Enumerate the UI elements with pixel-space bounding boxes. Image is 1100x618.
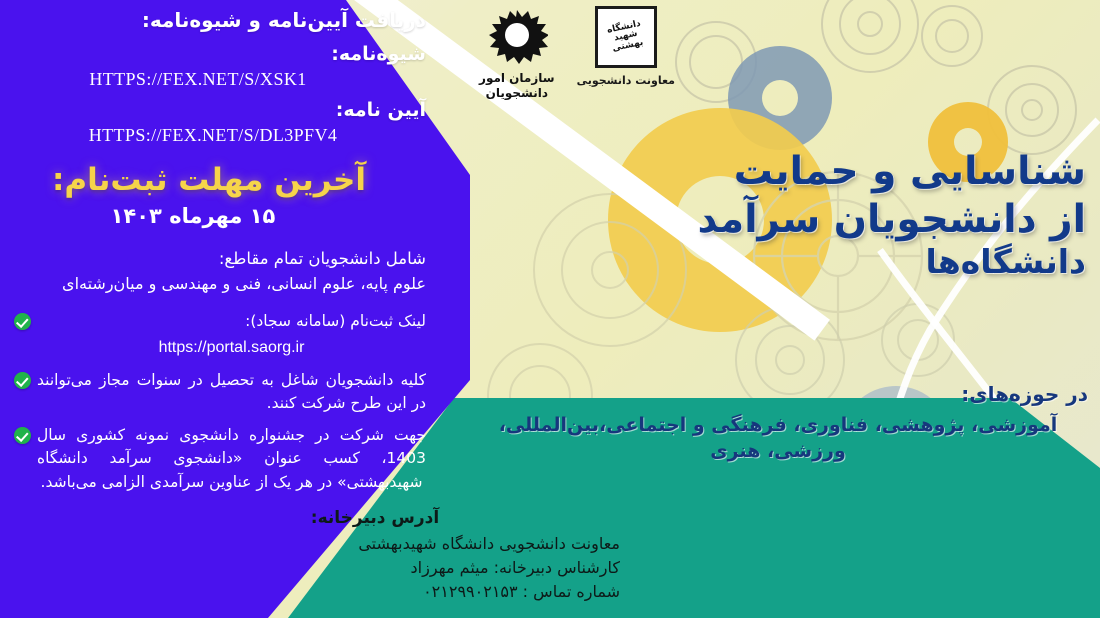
starburst-icon — [484, 6, 550, 68]
receive-heading: دریافت آیین‌نامه و شیوه‌نامه: — [10, 8, 426, 32]
logo-caption-line-2: دانشجویان — [479, 86, 555, 101]
title-line-3: دانشگاه‌ها — [616, 244, 1086, 281]
registration-link[interactable]: https://portal.saorg.ir — [37, 336, 426, 360]
eligibility-block: شامل دانشجویان تمام مقاطع: علوم پایه، عل… — [10, 246, 426, 296]
secretariat-phone[interactable]: شماره تماس : ۰۲۱۲۹۹۰۲۱۵۳ — [200, 580, 620, 604]
list-item: جهت شرکت در جشنواره دانشجوی نمونه کشوری … — [10, 424, 426, 494]
list-item: کلیه دانشجویان شاغل به تحصیل در سنوات مج… — [10, 369, 426, 416]
eligibility-line-2: علوم پایه، علوم انسانی، فنی و مهندسی و م… — [16, 272, 426, 297]
logo-student-affairs: سازمان امور دانشجویان — [479, 6, 555, 101]
secretariat-expert: کارشناس دبیرخانه: میثم مهرزاد — [200, 556, 620, 580]
method-url[interactable]: HTTPS://FEX.NET/S/XSK1 — [10, 69, 426, 90]
logo-shahid-beheshti: دانشگاه شهید بهشتی معاونت دانشجویی — [577, 6, 675, 87]
title-line-2: از دانشجویان سرآمد — [616, 198, 1086, 242]
list-item: لینک ثبت‌نام (سامانه سجاد): https://port… — [10, 310, 426, 359]
logo-caption: سازمان امور دانشجویان — [479, 71, 555, 101]
bullet-list: لینک ثبت‌نام (سامانه سجاد): https://port… — [10, 310, 426, 494]
page-title: شناسایی و حمایت از دانشجویان سرآمد دانشگ… — [616, 150, 1086, 281]
poster-canvas: دریافت آیین‌نامه و شیوه‌نامه: شیوه‌نامه:… — [0, 0, 1100, 618]
university-seal-icon: دانشگاه شهید بهشتی — [595, 6, 657, 68]
fields-heading: در حوزه‌های: — [468, 382, 1088, 406]
logo-caption-line-1: سازمان امور — [479, 71, 555, 86]
bullet-text-label: لینک ثبت‌نام (سامانه سجاد): — [245, 312, 426, 330]
logo-row: دانشگاه شهید بهشتی معاونت دانشجویی سازما… — [425, 6, 675, 114]
bullet-text: لینک ثبت‌نام (سامانه سجاد): https://port… — [37, 310, 426, 359]
logo-caption: معاونت دانشجویی — [577, 74, 675, 87]
secretariat-block: آدرس دبیرخانه: معاونت دانشجویی دانشگاه ش… — [200, 508, 620, 604]
check-circle-icon — [14, 372, 31, 389]
bullet-text: جهت شرکت در جشنواره دانشجوی نمونه کشوری … — [37, 424, 426, 494]
check-circle-icon — [14, 427, 31, 444]
check-circle-icon — [14, 313, 31, 330]
secretariat-address: معاونت دانشجویی دانشگاه شهیدبهشتی — [200, 532, 620, 556]
university-seal-text: دانشگاه شهید بهشتی — [599, 10, 654, 65]
deadline-date: ۱۵ مهرماه ۱۴۰۳ — [10, 204, 426, 228]
regulation-label: آیین نامه: — [10, 99, 426, 121]
deadline-heading: آخرین مهلت ثبت‌نام: — [10, 162, 426, 198]
fields-list: آموزشی، پژوهشی، فناوری، فرهنگی و اجتماعی… — [468, 413, 1088, 464]
method-label: شیوه‌نامه: — [10, 43, 426, 65]
eligibility-line-1: شامل دانشجویان تمام مقاطع: — [16, 246, 426, 272]
regulation-url[interactable]: HTTPS://FEX.NET/S/DL3PFV4 — [10, 125, 426, 146]
title-line-1: شناسایی و حمایت — [616, 150, 1086, 194]
starburst-glyph — [486, 8, 548, 66]
bullet-text: کلیه دانشجویان شاغل به تحصیل در سنوات مج… — [37, 369, 426, 416]
secretariat-heading: آدرس دبیرخانه: — [200, 508, 620, 528]
fields-section: در حوزه‌های: آموزشی، پژوهشی، فناوری، فره… — [468, 382, 1088, 464]
